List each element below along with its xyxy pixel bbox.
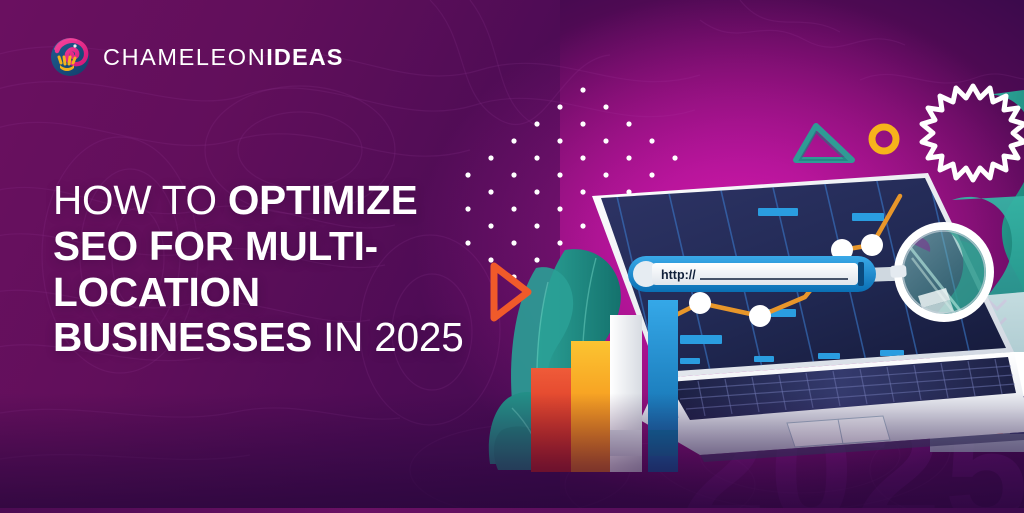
bottom-vignette (0, 393, 1024, 513)
headline-line1-bold: OPTIMIZE (228, 177, 418, 223)
url-search-bar[interactable]: http:// (628, 256, 902, 292)
brand-name: CHAMELEONIDEAS (103, 44, 344, 71)
brand-logo[interactable]: CHAMELEONIDEAS (48, 35, 344, 79)
headline-line4-bold: BUSINESSES (53, 314, 312, 360)
hero-banner: 2025 (0, 0, 1024, 513)
url-bar-text: http:// (661, 268, 696, 282)
headline-line4-light: IN 2025 (312, 314, 464, 360)
brand-name-bold: IDEAS (266, 44, 343, 70)
chameleon-circle-logo-icon (48, 35, 92, 79)
bottom-edge-strip (0, 508, 1024, 513)
brand-name-light: CHAMELEON (103, 44, 266, 70)
headline-line3: LOCATION (53, 269, 260, 315)
headline-line2: SEO FOR MULTI- (53, 223, 378, 269)
headline-line1-light: HOW TO (53, 177, 228, 223)
page-title: HOW TO OPTIMIZE SEO FOR MULTI- LOCATION … (53, 178, 523, 361)
